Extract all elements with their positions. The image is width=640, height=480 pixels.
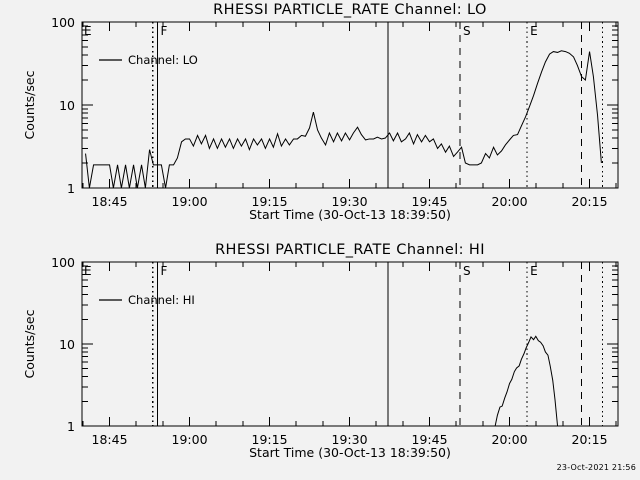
y-tick-label: 100 — [51, 255, 75, 270]
x-tick-label: 19:15 — [252, 432, 288, 447]
plot-page: RHESSI PARTICLE_RATE Channel: LOCounts/s… — [0, 0, 640, 480]
event-marker-label: E — [530, 264, 538, 278]
y-tick-label: 1 — [67, 181, 75, 196]
event-marker-label: S — [463, 264, 471, 278]
plot-canvas: RHESSI PARTICLE_RATE Channel: LOCounts/s… — [0, 0, 640, 480]
x-tick-label: 18:45 — [92, 432, 128, 447]
legend-label: Channel: LO — [128, 53, 198, 67]
x-tick-label: 19:45 — [412, 432, 448, 447]
event-marker-label: F — [161, 264, 168, 278]
x-tick-label: 20:00 — [492, 194, 528, 209]
event-marker-label: E — [530, 24, 538, 38]
event-marker-label: F — [161, 24, 168, 38]
axis-corner-label: E — [84, 24, 92, 38]
x-tick-label: 19:00 — [172, 432, 208, 447]
generation-timestamp: 23-Oct-2021 21:56 — [557, 463, 636, 472]
axis-corner-label: E — [84, 264, 92, 278]
y-tick-label: 100 — [51, 15, 75, 30]
x-tick-label: 19:15 — [252, 194, 288, 209]
panel-title: RHESSI PARTICLE_RATE Channel: LO — [213, 2, 487, 18]
y-axis-label: Counts/sec — [22, 70, 37, 139]
x-tick-label: 18:45 — [92, 194, 128, 209]
x-tick-label: 20:00 — [492, 432, 528, 447]
y-tick-label: 1 — [67, 419, 75, 434]
x-tick-label: 19:00 — [172, 194, 208, 209]
x-axis-label: Start Time (30-Oct-13 18:39:50) — [249, 207, 451, 222]
y-tick-label: 10 — [59, 98, 75, 113]
panel-title: RHESSI PARTICLE_RATE Channel: HI — [215, 242, 485, 258]
x-tick-label: 20:15 — [572, 194, 608, 209]
legend-label: Channel: HI — [128, 293, 195, 307]
x-tick-label: 19:30 — [332, 194, 368, 209]
y-axis-label: Counts/sec — [22, 309, 37, 378]
event-marker-label: S — [463, 24, 471, 38]
canvas-background — [0, 0, 640, 480]
x-tick-label: 19:30 — [332, 432, 368, 447]
x-axis-label: Start Time (30-Oct-13 18:39:50) — [249, 445, 451, 460]
x-tick-label: 19:45 — [412, 194, 448, 209]
y-tick-label: 10 — [59, 337, 75, 352]
x-tick-label: 20:15 — [572, 432, 608, 447]
